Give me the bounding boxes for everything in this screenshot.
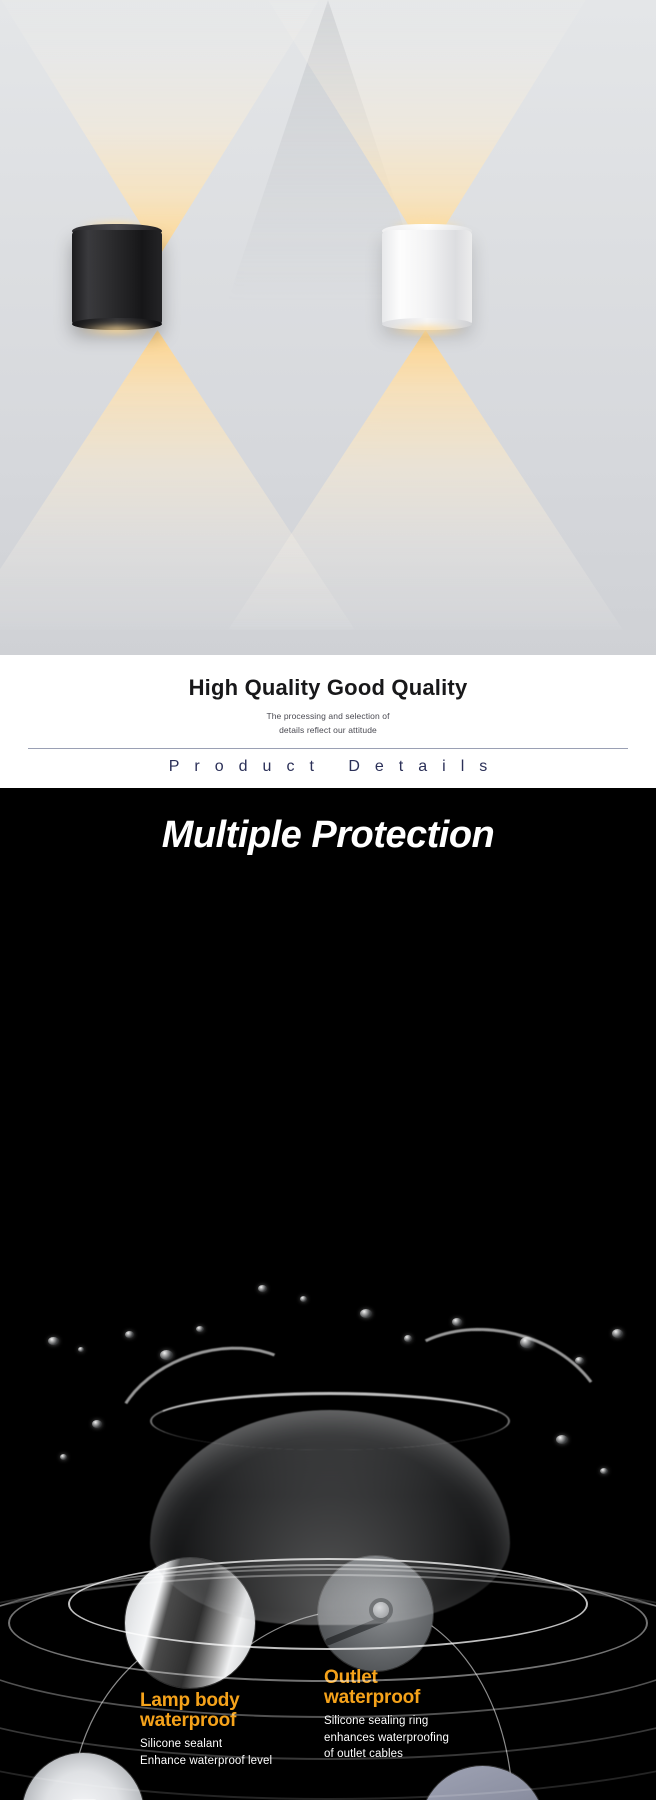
water-droplet <box>575 1357 584 1364</box>
water-droplet <box>556 1435 568 1444</box>
quality-banner: High Quality Good Quality The processing… <box>0 655 656 788</box>
water-droplet <box>160 1350 173 1360</box>
water-droplet <box>60 1454 67 1460</box>
water-droplet <box>404 1335 412 1342</box>
water-droplet <box>92 1420 102 1428</box>
lamp-bottom-glow <box>386 323 468 337</box>
water-splash-graphic <box>0 1280 656 1800</box>
water-droplet <box>520 1337 534 1348</box>
water-droplet <box>48 1337 59 1345</box>
product-details-label: Product Details <box>0 758 656 776</box>
black-wall-lamp <box>72 222 162 332</box>
water-droplet <box>78 1347 84 1352</box>
water-droplet <box>600 1468 608 1474</box>
water-droplet <box>360 1309 372 1318</box>
water-droplet <box>300 1296 307 1302</box>
banner-subtitle: The processing and selection of details … <box>0 710 656 736</box>
water-droplet <box>125 1331 134 1338</box>
water-droplet <box>258 1285 267 1292</box>
lamp-body <box>72 230 162 326</box>
lamp-body <box>382 230 472 326</box>
lamp-bottom-glow <box>76 323 158 337</box>
banner-subtitle-line-2: details reflect our attitude <box>0 724 656 737</box>
water-ripple-5 <box>0 1574 656 1800</box>
hero-product-photo <box>0 0 656 655</box>
banner-divider <box>28 748 628 749</box>
banner-subtitle-line-1: The processing and selection of <box>0 710 656 723</box>
water-droplet <box>452 1318 462 1326</box>
white-wall-lamp <box>382 222 472 332</box>
banner-title: High Quality Good Quality <box>0 675 656 701</box>
water-droplet <box>196 1326 204 1332</box>
product-detail-page: High Quality Good Quality The processing… <box>0 0 656 1800</box>
multiple-protection-section: Multiple Protection IP66 SELV CE Lamp <box>0 788 656 1800</box>
water-droplet <box>612 1329 623 1338</box>
